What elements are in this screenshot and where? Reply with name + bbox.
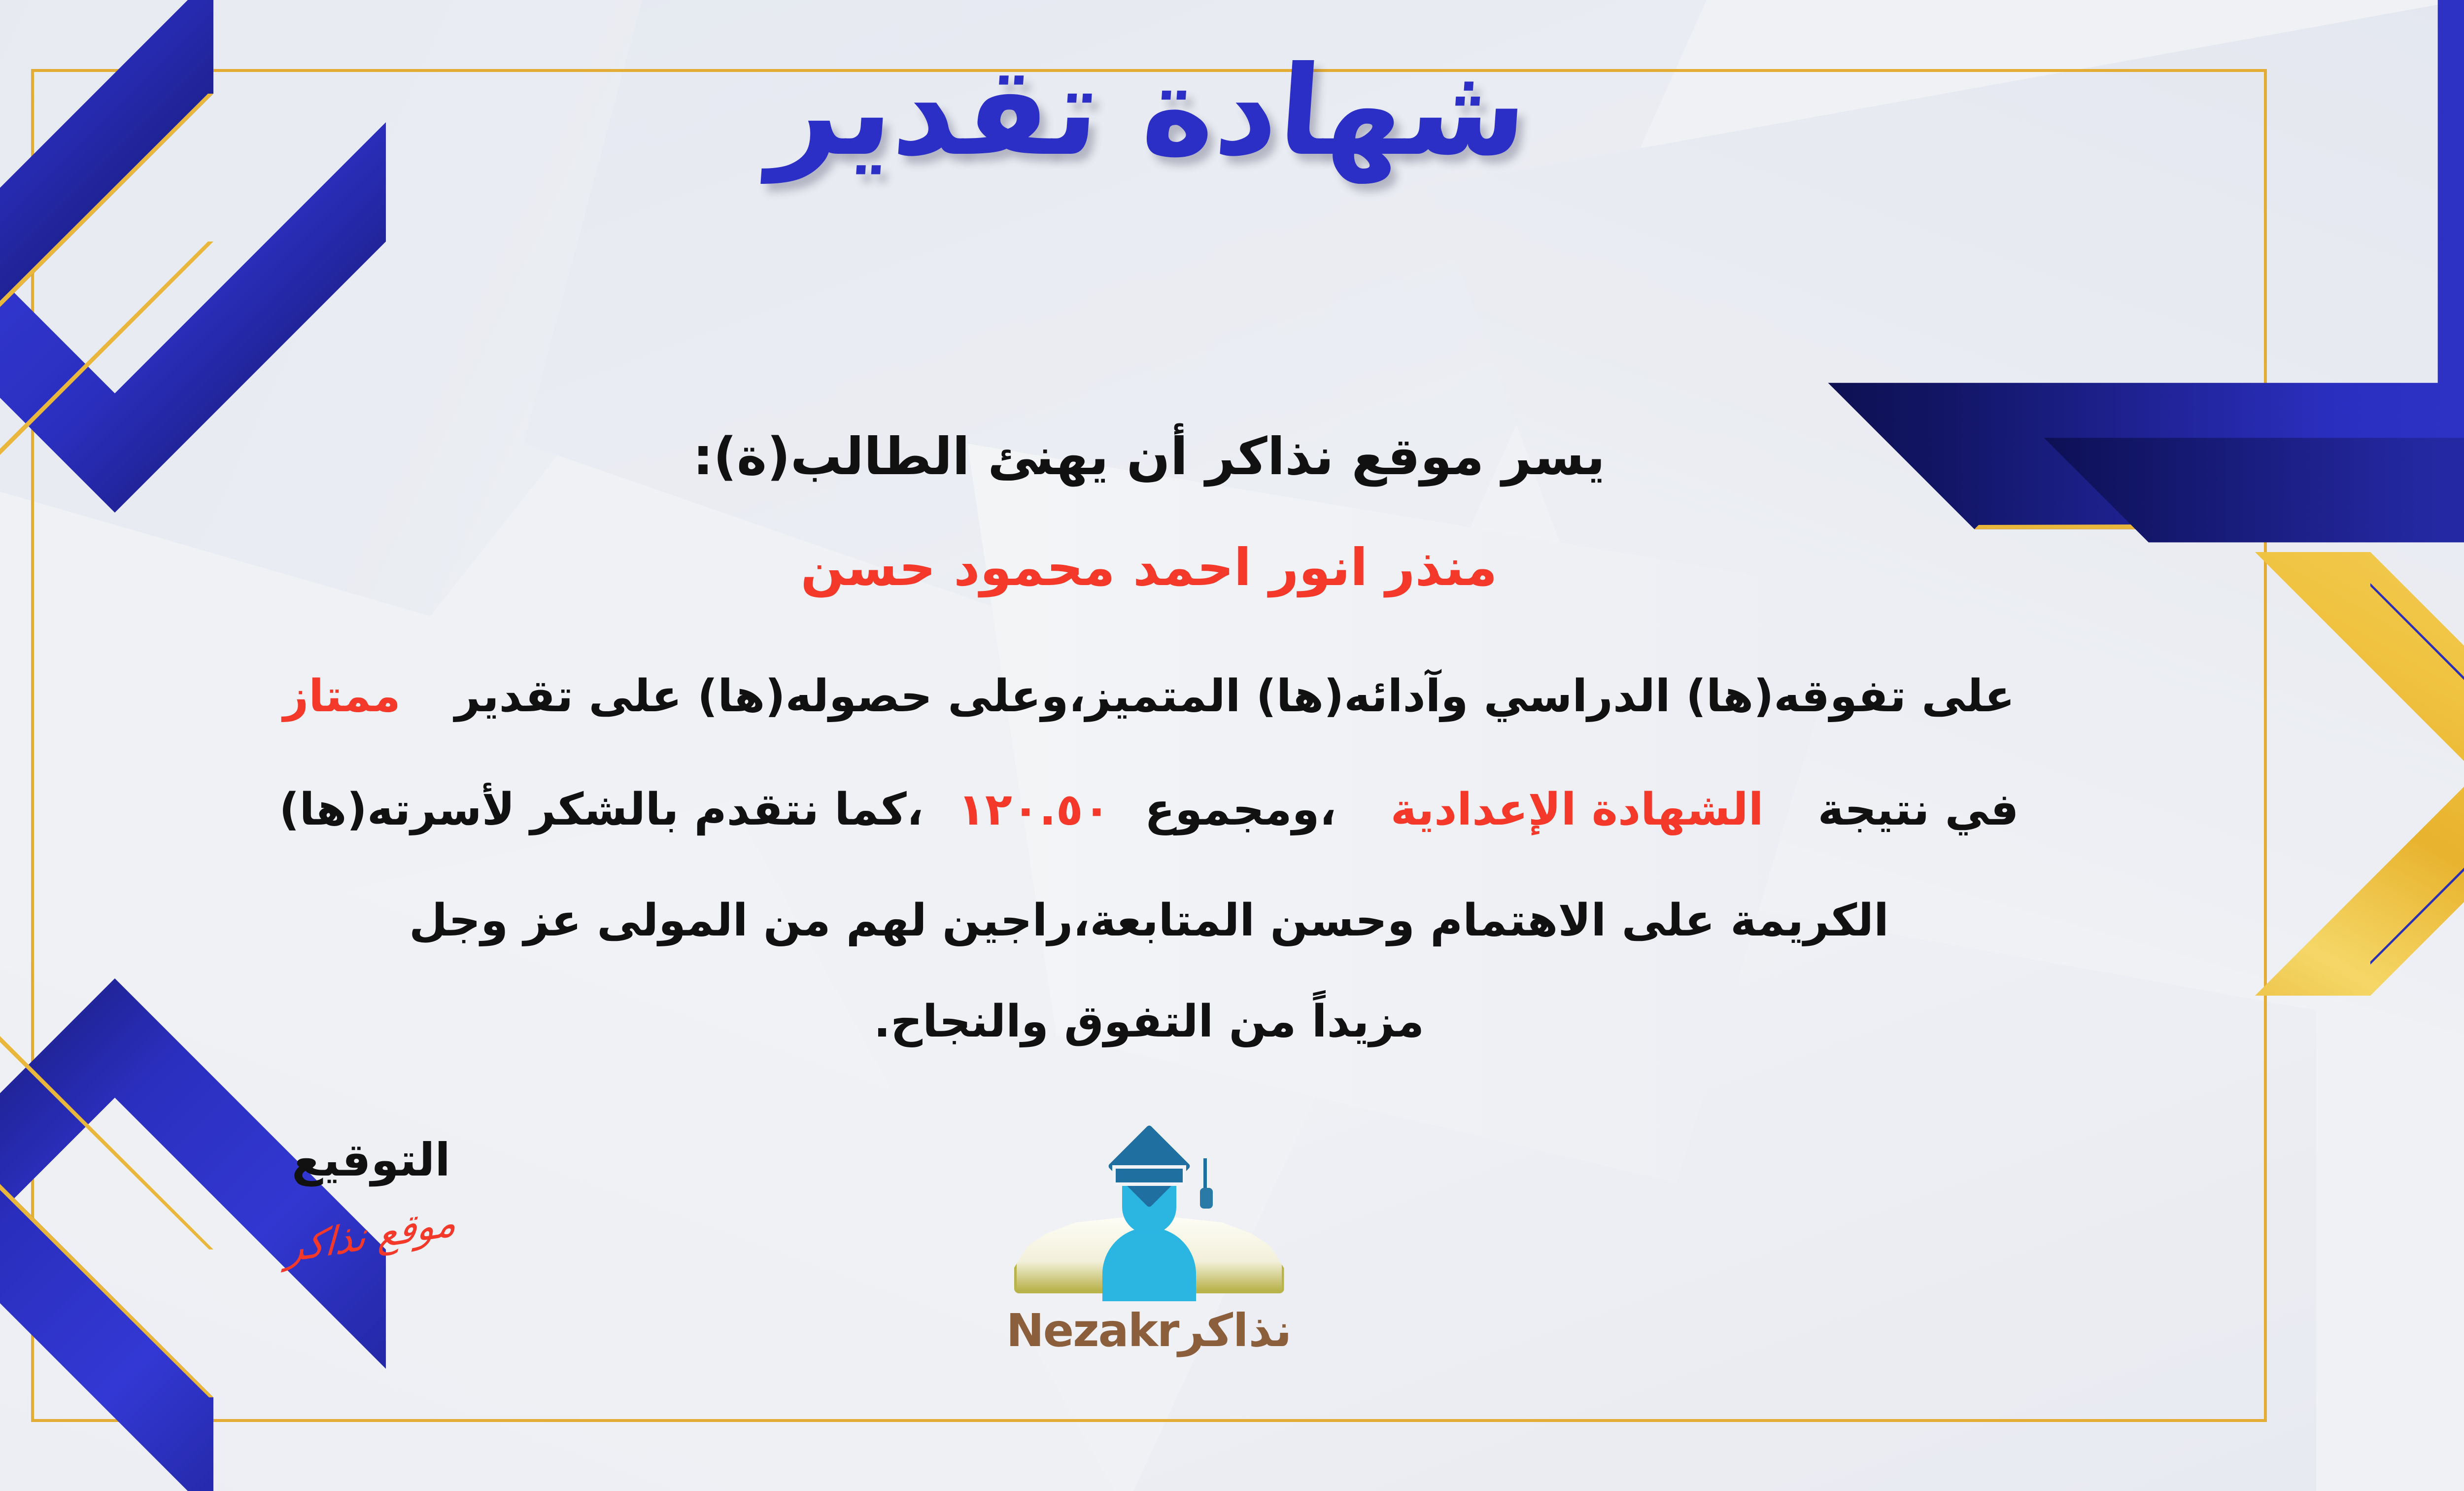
body-line-1: على تفوقه(ها) الدراسي وآدائه(ها) المتميز… bbox=[0, 670, 2405, 722]
body-line-4: مزيداً من التفوق والنجاح. bbox=[0, 996, 2405, 1047]
total-score: ١٢٠.٥٠ bbox=[958, 784, 1110, 835]
body-line-2: في نتيجةالشهادة الإعدادية،ومجموع١٢٠.٥٠،ك… bbox=[0, 784, 2405, 835]
certificate-title: شهادة تقدير bbox=[765, 35, 1533, 189]
body-line-2-mid: ،ومجموع bbox=[1145, 784, 1336, 835]
signature-label: التوقيع bbox=[218, 1134, 524, 1186]
body-line-2-suffix: ،كما نتقدم بالشكر لأسرته(ها) bbox=[279, 784, 924, 835]
logo-text: Nezakrنذاكر bbox=[962, 1304, 1336, 1357]
cap-tassel-ball-icon bbox=[1200, 1188, 1213, 1209]
logo-name-arabic: نذاكر bbox=[1178, 1304, 1292, 1357]
graduation-cap-icon bbox=[1088, 1137, 1211, 1180]
signature-mark: موقع نذاكر bbox=[285, 1200, 458, 1272]
title-container: شهادة تقدير bbox=[0, 35, 2464, 189]
student-name: منذر انور احمد محمود حسن bbox=[0, 537, 2405, 597]
intro-line: يسر موقع نذاكر أن يهنئ الطالب(ة): bbox=[0, 426, 2405, 486]
cap-band-icon bbox=[1112, 1165, 1186, 1186]
logo-artwork bbox=[1011, 1134, 1287, 1296]
body-line-2-prefix: في نتيجة bbox=[1818, 784, 2019, 835]
certificate-canvas: شهادة تقدير يسر موقع نذاكر أن يهنئ الطال… bbox=[0, 0, 2464, 1491]
certificate-content: شهادة تقدير يسر موقع نذاكر أن يهنئ الطال… bbox=[0, 0, 2464, 1491]
signature-block: التوقيع موقع نذاكر bbox=[218, 1134, 524, 1258]
grade-value: ممتاز bbox=[283, 670, 400, 722]
cap-tassel-icon bbox=[1203, 1158, 1207, 1191]
exam-name: الشهادة الإعدادية bbox=[1391, 784, 1764, 835]
site-logo: Nezakrنذاكر bbox=[962, 1134, 1336, 1357]
body-line-1-text: على تفوقه(ها) الدراسي وآدائه(ها) المتميز… bbox=[455, 670, 2015, 722]
body-line-3: الكريمة على الاهتمام وحسن المتابعة،راجين… bbox=[0, 895, 2405, 946]
logo-name-latin: Nezakr bbox=[1006, 1304, 1179, 1357]
